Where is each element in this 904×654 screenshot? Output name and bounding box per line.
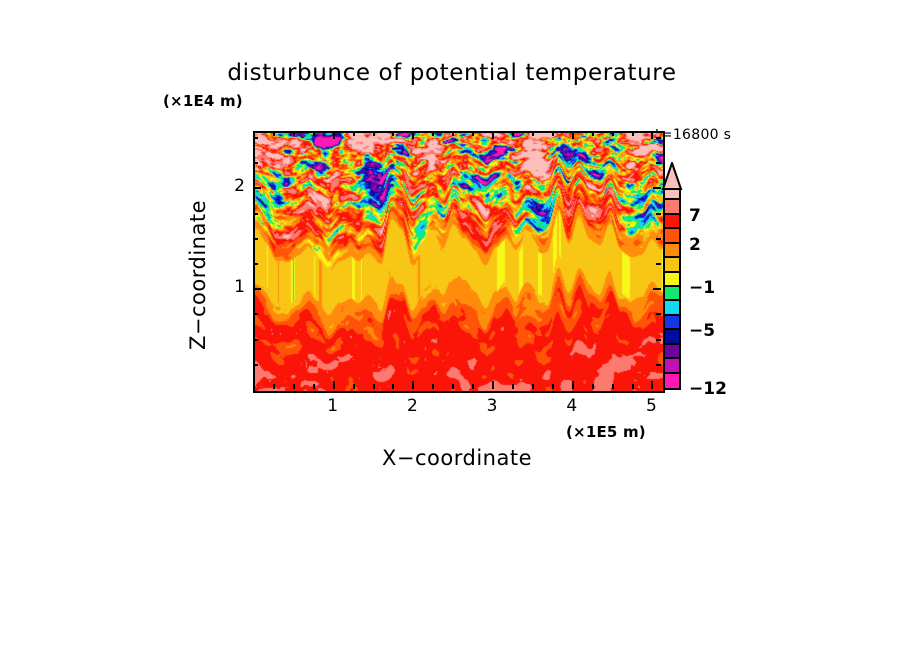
- x-tick-label: 1: [313, 396, 353, 416]
- x-tick-minor: [532, 384, 534, 389]
- plot-area: [253, 131, 665, 393]
- x-tick-minor-top: [432, 131, 434, 136]
- y-tick-minor: [253, 162, 258, 164]
- colorbar-band-separator: [665, 227, 679, 229]
- colorbar-band-separator: [665, 256, 679, 258]
- colorbar-band-separator: [665, 314, 679, 316]
- x-tick-label: 2: [392, 396, 432, 416]
- x-tick-minor-top: [632, 131, 634, 136]
- y-tick-label: 1: [215, 277, 245, 297]
- y-tick-major-right: [653, 288, 661, 290]
- y-axis-title-text: Z−coordinate: [186, 150, 210, 400]
- x-tick-minor-top: [293, 131, 295, 136]
- colorbar-band: [665, 373, 679, 388]
- x-tick-minor: [293, 384, 295, 389]
- x-tick-minor-top: [313, 131, 315, 136]
- x-tick-minor: [632, 384, 634, 389]
- x-tick-major-top: [572, 131, 574, 139]
- x-tick-minor-top: [392, 131, 394, 136]
- x-tick-minor-top: [353, 131, 355, 136]
- y-tick-minor: [253, 137, 258, 139]
- colorbar-tick-label: 2: [689, 235, 701, 255]
- colorbar: [663, 188, 681, 390]
- y-tick-minor-right: [656, 313, 661, 315]
- y-tick-minor: [253, 364, 258, 366]
- y-tick-minor: [253, 263, 258, 265]
- x-tick-minor-top: [592, 131, 594, 136]
- colorbar-band-separator: [665, 372, 679, 374]
- x-axis-unit-label: (×1E5 m): [566, 423, 646, 441]
- x-tick-major-top: [412, 131, 414, 139]
- y-tick-minor: [253, 213, 258, 215]
- x-tick-major-top: [333, 131, 335, 139]
- y-tick-major: [253, 187, 261, 189]
- colorbar-band-separator: [665, 328, 679, 330]
- colorbar-band-separator: [665, 357, 679, 359]
- colorbar-band-separator: [665, 213, 679, 215]
- x-tick-minor: [373, 384, 375, 389]
- y-tick-minor-right: [656, 339, 661, 341]
- x-tick-minor: [392, 384, 394, 389]
- x-tick-minor-top: [452, 131, 454, 136]
- figure-root: disturbunce of potential temperature (×1…: [0, 0, 904, 654]
- y-tick-minor-right: [656, 263, 661, 265]
- x-tick-major: [333, 381, 335, 389]
- y-tick-label: 2: [215, 176, 245, 196]
- x-tick-major-top: [492, 131, 494, 139]
- y-tick-minor: [253, 339, 258, 341]
- x-tick-minor: [472, 384, 474, 389]
- heatmap-canvas: [255, 133, 663, 391]
- x-tick-minor-top: [472, 131, 474, 136]
- x-tick-major-top: [651, 131, 653, 139]
- x-tick-minor-top: [612, 131, 614, 136]
- x-tick-minor-top: [512, 131, 514, 136]
- x-tick-minor-top: [373, 131, 375, 136]
- x-tick-minor: [592, 384, 594, 389]
- x-tick-minor: [452, 384, 454, 389]
- x-tick-minor-top: [552, 131, 554, 136]
- x-tick-major: [412, 381, 414, 389]
- y-tick-minor-right: [656, 137, 661, 139]
- time-annotation: t=16800 s: [655, 127, 731, 143]
- y-tick-minor-right: [656, 364, 661, 366]
- x-tick-minor-top: [532, 131, 534, 136]
- x-tick-label: 4: [552, 396, 592, 416]
- colorbar-band-separator: [665, 198, 679, 200]
- colorbar-extend-arrow: [661, 162, 683, 190]
- x-tick-minor: [432, 384, 434, 389]
- z-axis-unit-label: (×1E4 m): [163, 92, 243, 110]
- y-tick-major-right: [653, 187, 661, 189]
- colorbar-band-separator: [665, 242, 679, 244]
- x-tick-minor: [313, 384, 315, 389]
- x-tick-label: 3: [472, 396, 512, 416]
- x-tick-minor-top: [273, 131, 275, 136]
- colorbar-tick-label: 7: [689, 206, 701, 226]
- y-tick-minor: [253, 238, 258, 240]
- x-tick-major: [572, 381, 574, 389]
- x-tick-minor: [273, 384, 275, 389]
- x-axis-title: X−coordinate: [253, 446, 661, 470]
- colorbar-tick-label: −1: [689, 278, 715, 298]
- x-tick-label: 5: [631, 396, 671, 416]
- chart-title: disturbunce of potential temperature: [0, 60, 904, 86]
- y-tick-major: [253, 288, 261, 290]
- colorbar-band-separator: [665, 285, 679, 287]
- x-tick-minor: [512, 384, 514, 389]
- x-tick-major: [651, 381, 653, 389]
- colorbar-tick-label: −5: [689, 321, 715, 341]
- x-tick-minor: [353, 384, 355, 389]
- x-tick-minor: [612, 384, 614, 389]
- x-tick-major: [492, 381, 494, 389]
- x-tick-minor: [552, 384, 554, 389]
- colorbar-tick-label: −12: [689, 379, 727, 399]
- y-tick-minor: [253, 313, 258, 315]
- colorbar-band-separator: [665, 271, 679, 273]
- colorbar-band-separator: [665, 299, 679, 301]
- y-tick-minor-right: [656, 238, 661, 240]
- colorbar-band-separator: [665, 343, 679, 345]
- y-tick-minor-right: [656, 213, 661, 215]
